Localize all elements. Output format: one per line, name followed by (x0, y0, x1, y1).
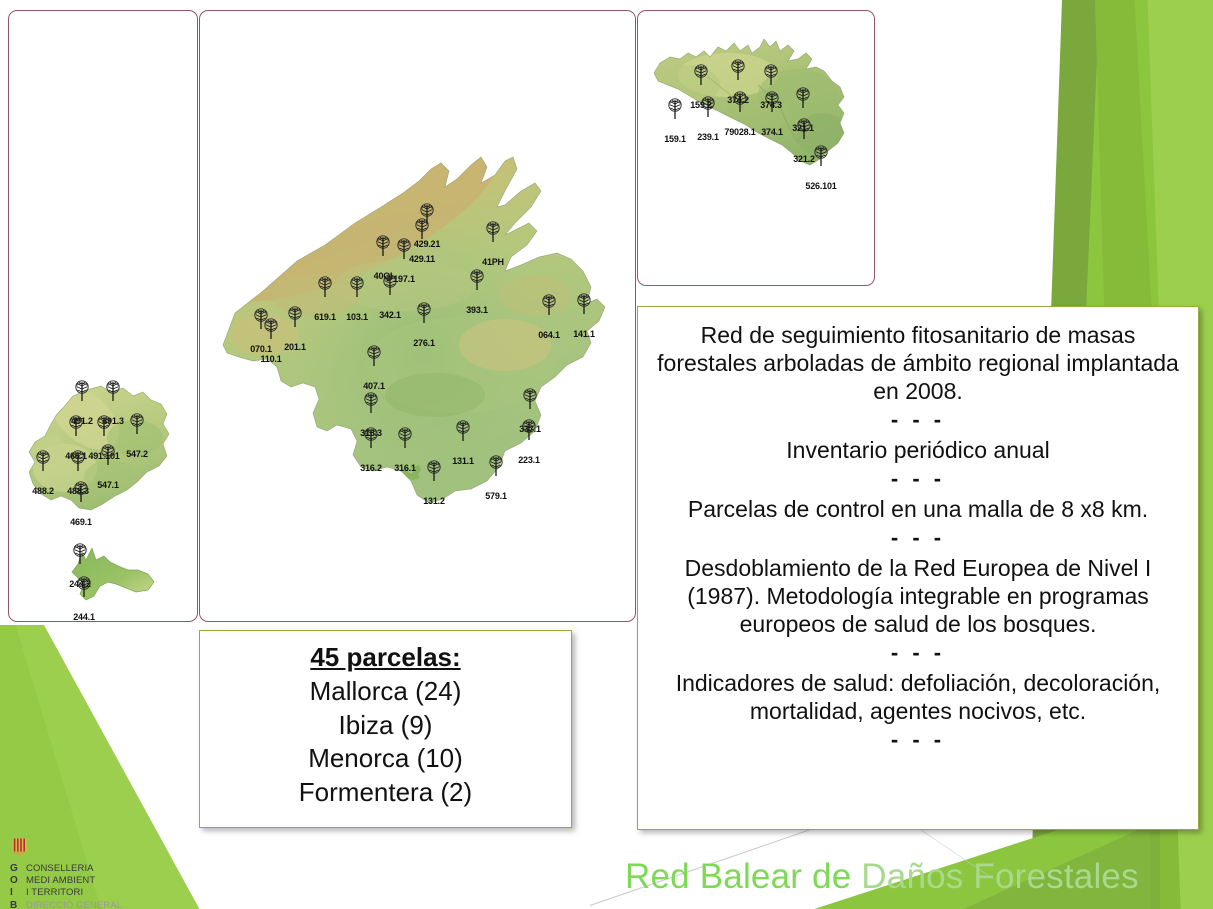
plot-label: 103.1 (346, 312, 368, 322)
tree-icon (75, 576, 93, 598)
info-paragraph-2: Inventario periódico anual (656, 436, 1180, 464)
plot-label: 41PH (482, 257, 504, 267)
tree-icon (666, 98, 684, 120)
tree-icon (104, 380, 122, 402)
parcelas-item-mallorca: Mallorca (24) (212, 675, 559, 709)
tree-icon (454, 420, 472, 442)
plot-label: 619.1 (314, 312, 336, 322)
plot-label: 131.1 (452, 456, 474, 466)
logo-text-rows: G O I B / CONSELLERIA MEDI AMBIENT I TER… (10, 863, 200, 909)
plot-label: 393.1 (466, 305, 488, 315)
plot-label: 547.1 (97, 480, 119, 490)
balearic-shield-icon (12, 838, 27, 856)
tree-icon (69, 450, 87, 472)
logo-words: CONSELLERIA MEDI AMBIENT I TERRITORI DIR… (26, 863, 122, 909)
logo-word-territori: I TERRITORI (26, 887, 122, 899)
tree-icon (762, 64, 780, 86)
plot-label: 239.1 (697, 132, 719, 142)
tree-icon (812, 145, 830, 167)
plot-label: 526.101 (805, 181, 836, 191)
tree-icon (415, 302, 433, 324)
tree-icon (362, 392, 380, 414)
tree-icon (34, 450, 52, 472)
tree-icon (763, 91, 781, 113)
tree-icon (692, 64, 710, 86)
tree-icon (484, 221, 502, 243)
info-separator-1: - - - (656, 407, 1180, 434)
tree-icon (763, 91, 781, 113)
tree-icon (540, 294, 558, 316)
logo-word-direccio-general: DIRECCIÓ GENERAL (26, 900, 122, 909)
tree-icon (128, 413, 146, 435)
logo-letter-o: O (10, 875, 26, 887)
tree-icon (72, 481, 90, 503)
tree-icon (99, 444, 117, 466)
tree-icon (520, 419, 538, 441)
tree-icon (395, 238, 413, 260)
logo-letter-i: I (10, 887, 26, 899)
plot-label: 064.1 (538, 330, 560, 340)
parcelas-title-line: 45 parcelas: (212, 641, 559, 675)
info-paragraph-3: Parcelas de control en una malla de 8 x8… (656, 495, 1180, 523)
plot-label: 131.2 (423, 496, 445, 506)
logo-letter-g: G (10, 863, 26, 875)
tree-icon (395, 238, 413, 260)
tree-icon (71, 543, 89, 565)
tree-icon (365, 345, 383, 367)
plot-label: 429.21 (414, 239, 440, 249)
footer-title-part-2: Daños Forestales (861, 857, 1139, 896)
tree-icon (362, 392, 380, 414)
tree-icon (731, 91, 749, 113)
info-separator-4: - - - (656, 640, 1180, 667)
tree-icon (795, 118, 813, 140)
tree-icon (699, 96, 717, 118)
info-paragraph-5: Indicadores de salud: defoliación, decol… (656, 669, 1180, 725)
logo-letters: G O I B / (10, 863, 26, 909)
tree-icon (73, 380, 91, 402)
tree-icon (729, 59, 747, 81)
slide-root: 429.21429.1141PH40QI197.1619.1103.1342.1… (0, 0, 1213, 909)
plot-label: 141.1 (573, 329, 595, 339)
tree-icon (484, 221, 502, 243)
logo-letter-b: B (10, 900, 26, 909)
tree-icon (575, 293, 593, 315)
plot-label: 110.1 (260, 354, 281, 364)
tree-icon (365, 345, 383, 367)
tree-icon (95, 415, 113, 437)
tree-icon (348, 276, 366, 298)
tree-icon (316, 276, 334, 298)
tree-icon (521, 388, 539, 410)
parcelas-item-menorca: Menorca (10) (212, 742, 559, 776)
tree-icon (794, 87, 812, 109)
slide-footer-title: Red Balear de Daños Forestales (625, 857, 1205, 897)
tree-icon (812, 145, 830, 167)
tree-icon (415, 302, 433, 324)
info-paragraph-1: Red de seguimiento fitosanitario de masa… (656, 321, 1180, 405)
tree-icon (99, 444, 117, 466)
tree-icon (374, 235, 392, 257)
tree-icon (413, 218, 431, 240)
parcelas-item-formentera: Formentera (2) (212, 776, 559, 810)
tree-icon (692, 64, 710, 86)
tree-icon (762, 64, 780, 86)
info-separator-5: - - - (656, 727, 1180, 754)
plot-label: 316.1 (394, 463, 416, 473)
tree-icon (362, 427, 380, 449)
tree-icon (34, 450, 52, 472)
tree-icon (487, 455, 505, 477)
plot-label: 488.2 (32, 486, 54, 496)
tree-icon (286, 306, 304, 328)
tree-icon (286, 306, 304, 328)
tree-icon (699, 96, 717, 118)
tree-icon (71, 543, 89, 565)
goib-logo: G O I B / CONSELLERIA MEDI AMBIENT I TER… (10, 838, 200, 909)
tree-icon (396, 427, 414, 449)
info-separator-3: - - - (656, 525, 1180, 552)
tree-icon (348, 276, 366, 298)
plot-label: 244.1 (73, 612, 95, 622)
plot-label: 407.1 (363, 381, 385, 391)
tree-icon (374, 235, 392, 257)
plot-label: 547.2 (126, 449, 148, 459)
plot-label: 374.1 (761, 127, 783, 137)
tree-icon (128, 413, 146, 435)
parcelas-summary-box: 45 parcelas: Mallorca (24) Ibiza (9) Men… (199, 630, 572, 828)
tree-icon (262, 318, 280, 340)
panel-ibiza-formentera (8, 10, 198, 622)
tree-icon (454, 420, 472, 442)
info-description-box: Red de seguimiento fitosanitario de masa… (637, 306, 1199, 830)
tree-icon (73, 380, 91, 402)
logo-word-conselleria: CONSELLERIA (26, 863, 122, 875)
tree-icon (362, 427, 380, 449)
tree-icon (67, 415, 85, 437)
tree-icon (795, 118, 813, 140)
tree-icon (381, 274, 399, 296)
tree-icon (468, 269, 486, 291)
plot-label: 579.1 (485, 491, 507, 501)
tree-icon (794, 87, 812, 109)
plot-label: 070.1 (250, 344, 272, 354)
parcelas-item-ibiza: Ibiza (9) (212, 709, 559, 743)
tree-icon (95, 415, 113, 437)
tree-icon (521, 388, 539, 410)
logo-word-medi-ambient: MEDI AMBIENT (26, 875, 122, 887)
plot-label: 316.2 (360, 463, 382, 473)
tree-icon (729, 59, 747, 81)
tree-icon (72, 481, 90, 503)
footer-title-part-1: Red Balear de (625, 857, 861, 896)
tree-icon (104, 380, 122, 402)
plot-label: 201.1 (284, 342, 306, 352)
tree-icon (425, 460, 443, 482)
tree-icon (487, 455, 505, 477)
tree-icon (666, 98, 684, 120)
tree-icon (468, 269, 486, 291)
tree-icon (262, 318, 280, 340)
tree-icon (75, 576, 93, 598)
tree-icon (381, 274, 399, 296)
tree-icon (425, 460, 443, 482)
tree-icon (575, 293, 593, 315)
tree-icon (67, 415, 85, 437)
tree-icon (316, 276, 334, 298)
tree-icon (69, 450, 87, 472)
plot-label: 79028.1 (724, 127, 755, 137)
plot-label: 469.1 (70, 517, 92, 527)
tree-icon (520, 419, 538, 441)
plot-label: 342.1 (379, 310, 401, 320)
plot-label: 223.1 (518, 455, 540, 465)
tree-icon (540, 294, 558, 316)
tree-icon (396, 427, 414, 449)
info-paragraph-4: Desdoblamiento de la Red Europea de Nive… (656, 554, 1180, 638)
parcelas-title: 45 parcelas: (310, 642, 460, 672)
plot-label: 159.1 (664, 134, 686, 144)
tree-icon (731, 91, 749, 113)
plot-label: 276.1 (413, 338, 435, 348)
info-separator-2: - - - (656, 466, 1180, 493)
tree-icon (413, 218, 431, 240)
